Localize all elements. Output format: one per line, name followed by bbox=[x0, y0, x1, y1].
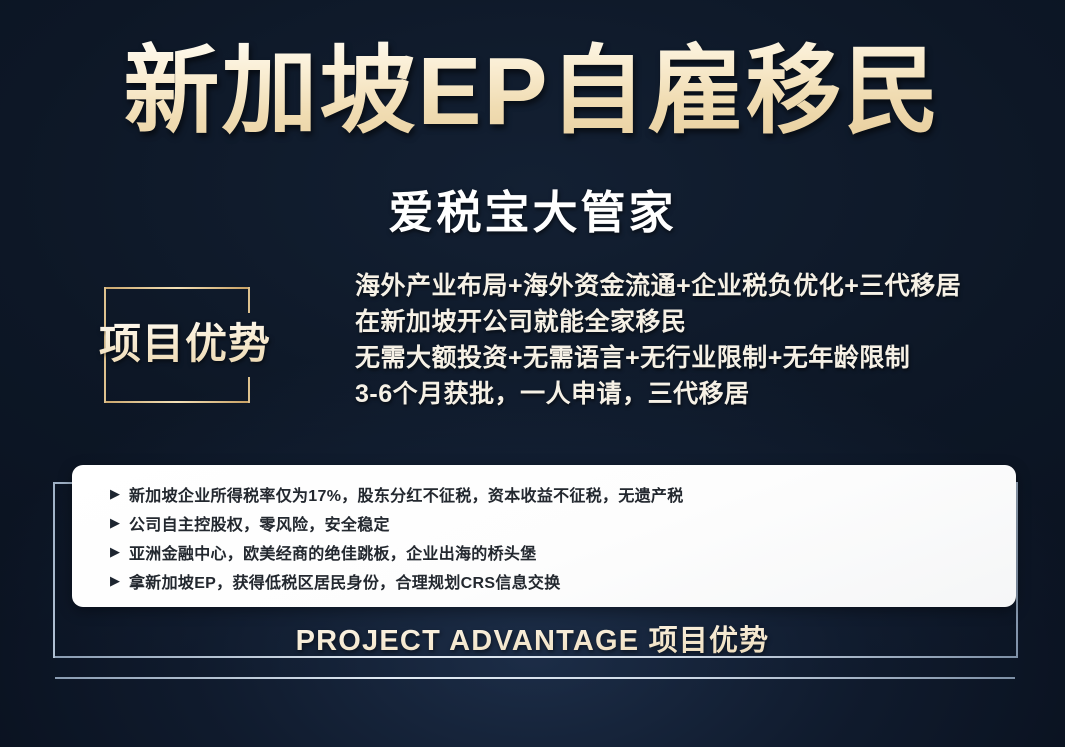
feature-line: 3-6个月获批，一人申请，三代移居 bbox=[355, 376, 1025, 412]
footer-divider-upper bbox=[55, 656, 1015, 658]
page-title: 新加坡EP自雇移民 bbox=[0, 38, 1065, 146]
list-item: ▶ 新加坡企业所得税率仅为17%，股东分红不征税，资本收益不征税，无遗产税 bbox=[72, 479, 1016, 508]
footer-caption: PROJECT ADVANTAGE 项目优势 bbox=[0, 617, 1065, 659]
badge-frame-right-top-tick bbox=[248, 287, 250, 313]
feature-line: 无需大额投资+无需语言+无行业限制+无年龄限制 bbox=[355, 340, 1025, 376]
feature-line: 在新加坡开公司就能全家移民 bbox=[355, 304, 1025, 340]
triangle-bullet-icon: ▶ bbox=[110, 545, 120, 558]
triangle-bullet-icon: ▶ bbox=[110, 574, 120, 587]
list-item: ▶ 公司自主控股权，零风险，安全稳定 bbox=[72, 508, 1016, 537]
feature-line: 海外产业布局+海外资金流通+企业税负优化+三代移居 bbox=[355, 268, 1025, 304]
badge-frame-right-bottom-tick bbox=[248, 377, 250, 403]
list-item: ▶ 亚洲金融中心，欧美经商的绝佳跳板，企业出海的桥头堡 bbox=[72, 537, 1016, 566]
list-item-label: 亚洲金融中心，欧美经商的绝佳跳板，企业出海的桥头堡 bbox=[129, 540, 537, 564]
highlights-card: ▶ 新加坡企业所得税率仅为17%，股东分红不征税，资本收益不征税，无遗产税 ▶ … bbox=[72, 465, 1016, 607]
list-item-label: 拿新加坡EP，获得低税区居民身份，合理规划CRS信息交换 bbox=[129, 569, 561, 593]
list-item-label: 公司自主控股权，零风险，安全稳定 bbox=[129, 511, 390, 535]
triangle-bullet-icon: ▶ bbox=[110, 487, 120, 500]
footer-divider-lower bbox=[55, 677, 1015, 679]
list-item: ▶ 拿新加坡EP，获得低税区居民身份，合理规划CRS信息交换 bbox=[72, 566, 1016, 595]
list-item-label: 新加坡企业所得税率仅为17%，股东分红不征税，资本收益不征税，无遗产税 bbox=[129, 482, 684, 506]
badge-frame-bottom-line bbox=[104, 401, 250, 403]
badge-label: 项目优势 bbox=[99, 313, 314, 375]
project-advantage-badge: 项目优势 bbox=[104, 287, 250, 403]
page-subtitle: 爱税宝大管家 bbox=[0, 176, 1065, 241]
triangle-bullet-icon: ▶ bbox=[110, 516, 120, 529]
poster-canvas: 新加坡EP自雇移民 爱税宝大管家 项目优势 海外产业布局+海外资金流通+企业税负… bbox=[0, 0, 1065, 747]
badge-frame-top-line bbox=[104, 287, 250, 289]
feature-list: 海外产业布局+海外资金流通+企业税负优化+三代移居 在新加坡开公司就能全家移民 … bbox=[355, 268, 1025, 412]
